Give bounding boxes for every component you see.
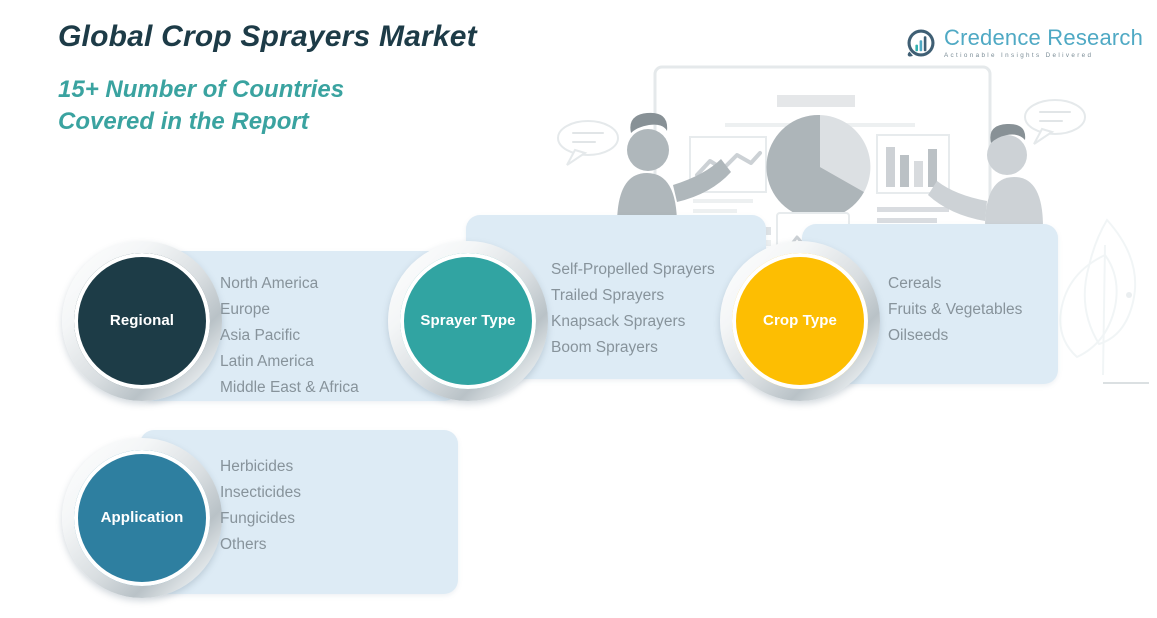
infographic-canvas: Global Crop Sprayers Market 15+ Number o… — [0, 0, 1157, 618]
list-item: Herbicides — [220, 454, 301, 480]
list-item: Knapsack Sprayers — [551, 309, 715, 335]
list-item: Asia Pacific — [220, 323, 359, 349]
logo-tagline: Actionable Insights Delivered — [944, 52, 1143, 59]
credence-research-logo: Credence Research Actionable Insights De… — [905, 26, 1143, 59]
list-item: Latin America — [220, 349, 359, 375]
card-items-application: Herbicides Insecticides Fungicides Other… — [220, 454, 301, 558]
page-title: Global Crop Sprayers Market — [58, 20, 477, 54]
list-item: Cereals — [888, 271, 1022, 297]
list-item: Boom Sprayers — [551, 335, 715, 361]
card-circle-regional[interactable]: Regional — [74, 253, 210, 389]
list-item: Others — [220, 532, 301, 558]
card-label-regional: Regional — [110, 312, 174, 329]
card-label-crop-type: Crop Type — [763, 312, 837, 329]
card-items-crop-type: Cereals Fruits & Vegetables Oilseeds — [888, 271, 1022, 349]
card-circle-crop-type[interactable]: Crop Type — [732, 253, 868, 389]
card-circle-application[interactable]: Application — [74, 450, 210, 586]
list-item: Insecticides — [220, 480, 301, 506]
card-items-regional: North America Europe Asia Pacific Latin … — [220, 271, 359, 401]
card-circle-sprayer-type[interactable]: Sprayer Type — [400, 253, 536, 389]
leaf-icon — [1045, 215, 1157, 405]
list-item: Trailed Sprayers — [551, 283, 715, 309]
card-ring-crop-type: Crop Type — [720, 241, 880, 401]
card-label-application: Application — [101, 509, 184, 526]
card-ring-sprayer-type: Sprayer Type — [388, 241, 548, 401]
bar-chart-circle-logo-icon — [905, 27, 937, 59]
logo-name: Credence Research — [944, 26, 1143, 49]
card-items-sprayer-type: Self-Propelled Sprayers Trailed Sprayers… — [551, 257, 715, 361]
page-subtitle: 15+ Number of Countries Covered in the R… — [58, 74, 344, 137]
card-ring-regional: Regional — [62, 241, 222, 401]
list-item: Europe — [220, 297, 359, 323]
list-item: Fungicides — [220, 506, 301, 532]
logo-text: Credence Research Actionable Insights De… — [944, 26, 1143, 59]
list-item: Middle East & Africa — [220, 375, 359, 401]
list-item: Oilseeds — [888, 323, 1022, 349]
card-label-sprayer-type: Sprayer Type — [420, 312, 515, 329]
list-item: North America — [220, 271, 359, 297]
list-item: Self-Propelled Sprayers — [551, 257, 715, 283]
list-item: Fruits & Vegetables — [888, 297, 1022, 323]
card-ring-application: Application — [62, 438, 222, 598]
